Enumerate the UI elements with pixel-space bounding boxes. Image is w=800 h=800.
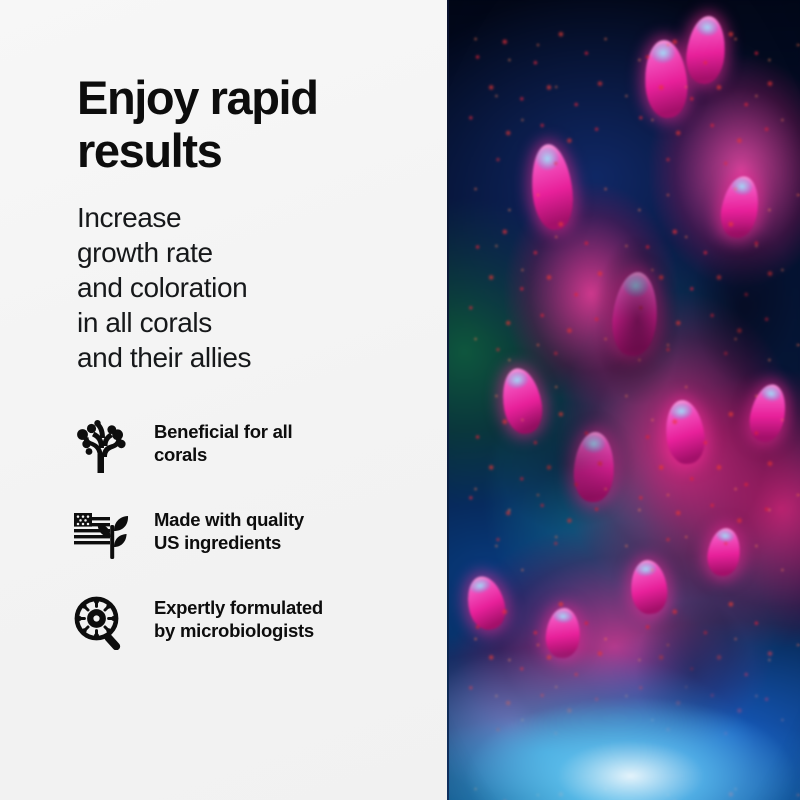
list-item: Beneficial for all corals xyxy=(72,414,432,502)
magnifier-microbe-icon xyxy=(72,594,130,652)
subcopy-line: Increase xyxy=(77,200,407,235)
label-line: Expertly formulated xyxy=(154,596,424,619)
subcopy-line: and their allies xyxy=(77,340,407,375)
coral-branch-icon xyxy=(72,418,130,476)
label-line: by microbiologists xyxy=(154,619,424,642)
list-item: Expertly formulated by microbiologists xyxy=(72,590,432,678)
text-panel: Enjoy rapid results Increase growth rate… xyxy=(0,0,447,800)
photo-vignette xyxy=(447,0,800,800)
page-title: Enjoy rapid results xyxy=(77,72,417,177)
promo-banner: Enjoy rapid results Increase growth rate… xyxy=(0,0,800,800)
list-item-label: Expertly formulated by microbiologists xyxy=(154,590,424,642)
panel-divider xyxy=(447,0,449,800)
label-line: US ingredients xyxy=(154,531,424,554)
label-line: Beneficial for all xyxy=(154,420,424,443)
label-line: Made with quality xyxy=(154,508,424,531)
list-item-label: Beneficial for all corals xyxy=(154,414,424,466)
list-item-label: Made with quality US ingredients xyxy=(154,502,424,554)
us-flag-plant-icon xyxy=(72,506,130,564)
feature-list: Beneficial for all corals xyxy=(72,414,432,678)
acropora-coral-photo xyxy=(447,0,800,800)
list-item: Made with quality US ingredients xyxy=(72,502,432,590)
subcopy-line: and coloration xyxy=(77,270,407,305)
subcopy-line: in all corals xyxy=(77,305,407,340)
subcopy-line: growth rate xyxy=(77,235,407,270)
subcopy: Increase growth rate and coloration in a… xyxy=(77,200,407,375)
label-line: corals xyxy=(154,443,424,466)
